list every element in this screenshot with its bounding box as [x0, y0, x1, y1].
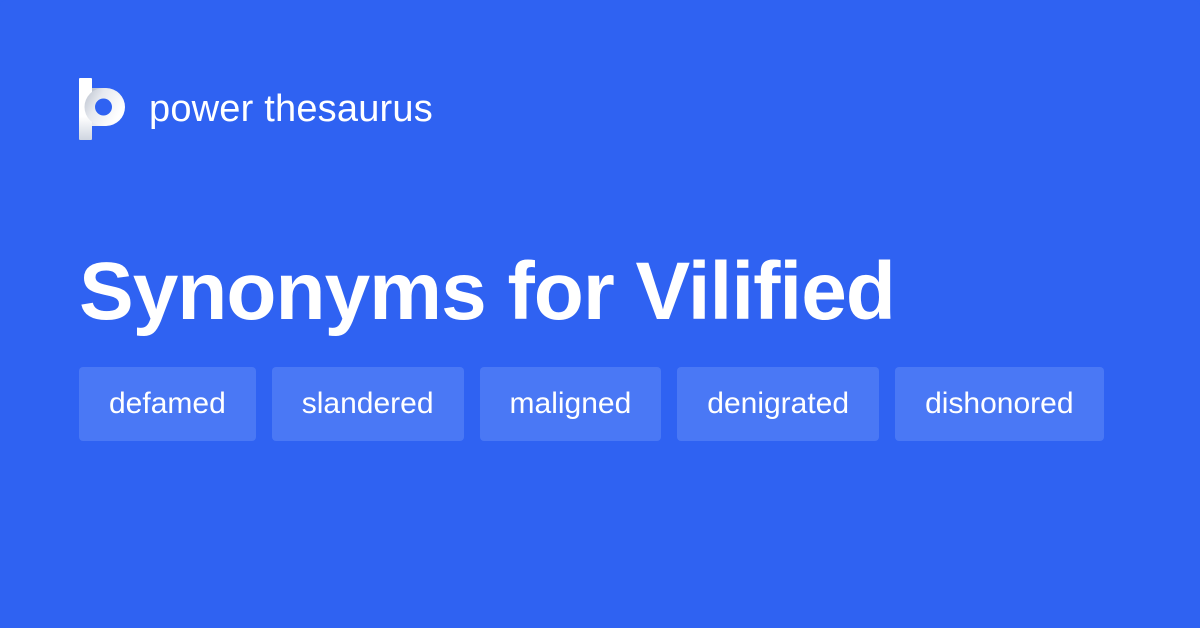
power-thesaurus-b-logo-icon: [79, 78, 125, 140]
synonym-chip[interactable]: slandered: [272, 367, 464, 441]
synonym-chip-list: defamed slandered maligned denigrated di…: [79, 367, 1119, 441]
share-card: power thesaurus Synonyms for Vilified de…: [0, 0, 1200, 628]
synonym-chip[interactable]: maligned: [480, 367, 662, 441]
synonym-chip[interactable]: defamed: [79, 367, 256, 441]
synonym-chip[interactable]: denigrated: [677, 367, 879, 441]
brand-name: power thesaurus: [149, 90, 433, 128]
brand-logo[interactable]: power thesaurus: [79, 78, 433, 140]
page-title: Synonyms for Vilified: [79, 251, 895, 333]
synonym-chip[interactable]: dishonored: [895, 367, 1103, 441]
